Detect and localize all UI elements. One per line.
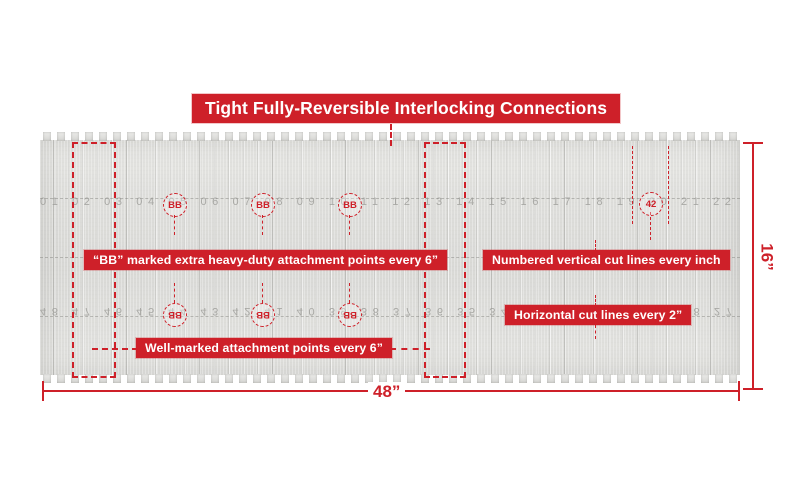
callout-well-marked: Well-marked attachment points every 6” — [136, 338, 392, 358]
callout-leader-line — [595, 295, 596, 306]
attachment-marker-bb-reversed: BB — [163, 303, 187, 327]
callout-horizontal-cuts: Horizontal cut lines every 2” — [505, 305, 691, 325]
callout-leader-line — [595, 325, 596, 339]
dimension-cap-top — [743, 142, 763, 144]
dimension-label-height: 16” — [757, 238, 777, 275]
dimension-cap-bottom — [743, 388, 763, 390]
dimension-cap-right — [738, 381, 740, 401]
callout-bb-points: “BB” marked extra heavy-duty attachment … — [84, 250, 447, 270]
marker-leader-line — [349, 215, 350, 235]
dimension-label-width: 48” — [368, 382, 405, 402]
callout-leader-line — [92, 348, 138, 350]
callout-leader-line — [390, 348, 430, 350]
dimension-line-height — [752, 142, 754, 390]
diagram-canvas: 01 02 03 04 05 06 07 08 09 10 11 12 13 1… — [0, 0, 800, 500]
marker-leader-line — [174, 283, 175, 303]
dimension-cap-left — [42, 381, 44, 401]
numbered-cut-marker: 42 — [639, 192, 663, 216]
cut-guide-center — [650, 212, 651, 240]
marker-leader-line — [262, 283, 263, 303]
cut-guide-right — [668, 146, 669, 224]
marker-leader-line — [262, 215, 263, 235]
callout-leader-line — [595, 240, 596, 251]
attachment-marker-bb: BB — [251, 193, 275, 217]
cut-guide-left — [632, 146, 633, 224]
attachment-marker-bb-reversed: BB — [251, 303, 275, 327]
title-banner: Tight Fully-Reversible Interlocking Conn… — [192, 94, 620, 123]
marker-leader-line — [349, 283, 350, 303]
attachment-marker-bb: BB — [338, 193, 362, 217]
attachment-marker-bb: BB — [163, 193, 187, 217]
callout-vertical-cuts: Numbered vertical cut lines every inch — [483, 250, 730, 270]
marker-leader-line — [174, 215, 175, 235]
printed-numbers-top: 01 02 03 04 05 06 07 08 09 10 11 12 13 1… — [40, 196, 740, 208]
title-leader-line — [390, 124, 392, 146]
attachment-marker-bb-reversed: BB — [338, 303, 362, 327]
